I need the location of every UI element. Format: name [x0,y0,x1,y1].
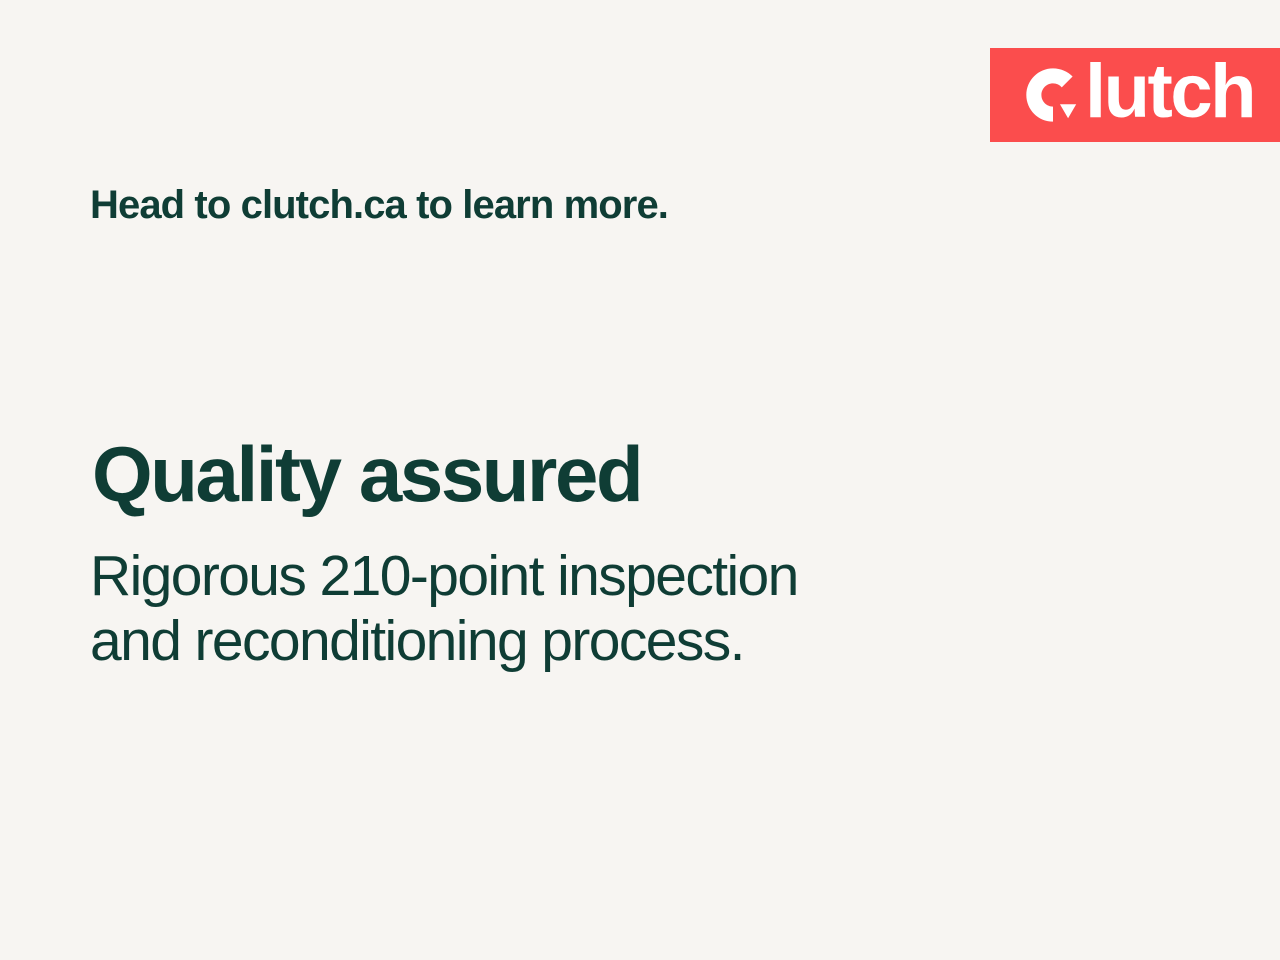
subheadline-line-1: Rigorous 210-point inspection [90,544,798,609]
clutch-logo-badge[interactable]: lutch [990,48,1280,142]
slide-canvas: lutch Head to clutch.ca to learn more. Q… [0,0,1280,960]
clutch-wordmark-text: lutch [1085,54,1254,130]
subheadline-line-2: and reconditioning process. [90,609,798,674]
clutch-c-mark-icon [1024,66,1082,124]
page-title: Quality assured [92,434,641,516]
clutch-wordmark: lutch [1024,57,1254,133]
subheadline: Rigorous 210-point inspection and recond… [90,544,798,674]
eyebrow-text: Head to clutch.ca to learn more. [90,182,668,228]
